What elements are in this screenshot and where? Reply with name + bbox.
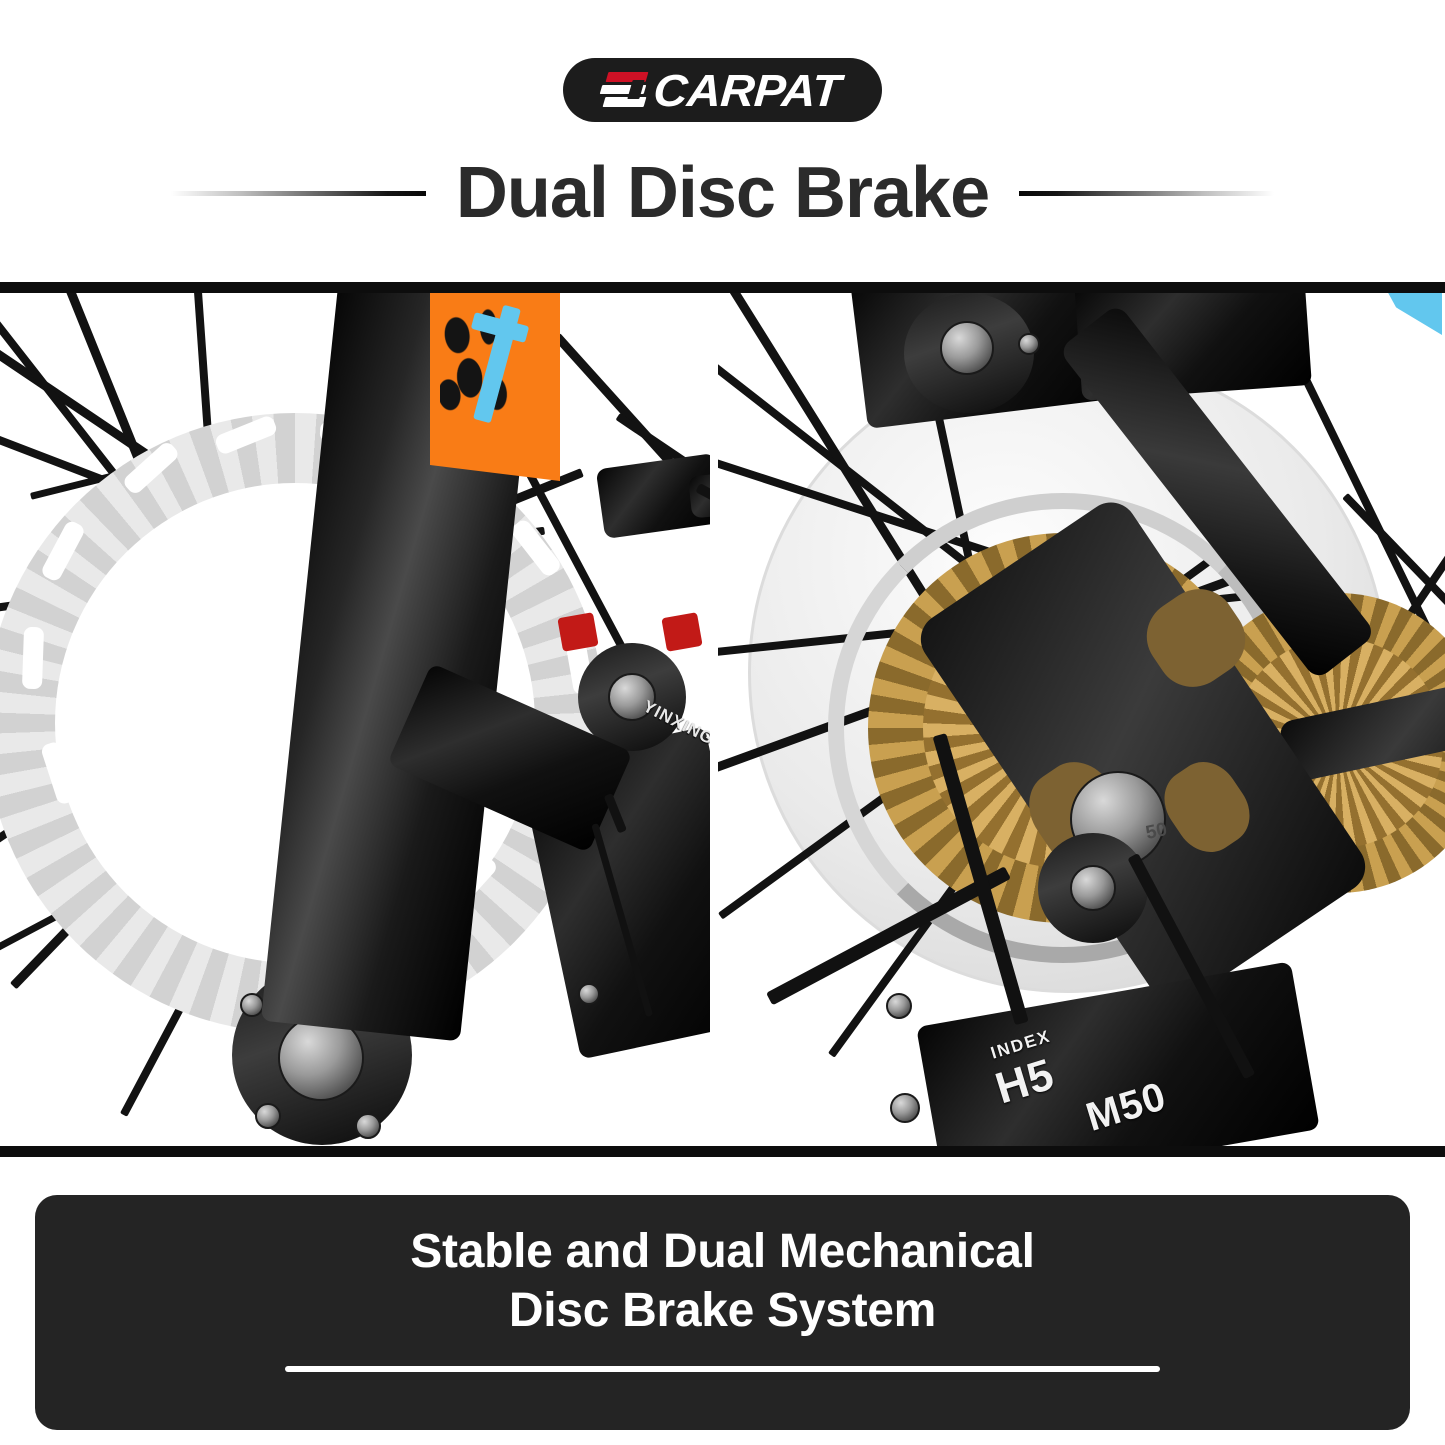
photo-bottom-border (0, 1146, 1445, 1157)
axle-stamp-label: 50 (1144, 819, 1169, 845)
caption-panel: Stable and Dual Mechanical Disc Brake Sy… (35, 1195, 1410, 1430)
photo-right-pane: 50 INDEX H5 M50 (718, 293, 1445, 1146)
caption-line-2: Disc Brake System (509, 1282, 936, 1341)
page-title: Dual Disc Brake (456, 157, 989, 229)
gradient-rule-right-icon (1019, 191, 1274, 196)
logo-wordmark: CARPAT (652, 68, 842, 113)
brand-logo: CARPAT (0, 58, 1445, 122)
photo-pane-divider (710, 293, 718, 1146)
e-chevron-mark-icon (601, 70, 647, 110)
gradient-rule-left-icon (171, 191, 426, 196)
photo-top-border (0, 282, 1445, 293)
divider-rule-icon (285, 1366, 1160, 1372)
caption-line-1: Stable and Dual Mechanical (410, 1223, 1034, 1282)
brake-pad-indicator (557, 612, 598, 652)
logo-pill: CARPAT (563, 58, 882, 122)
product-photo-panel: YINXING (0, 282, 1445, 1157)
frame-blue-accent-decal (1386, 293, 1442, 335)
headline-row: Dual Disc Brake (0, 143, 1445, 243)
photo-left-pane: YINXING (0, 293, 710, 1146)
